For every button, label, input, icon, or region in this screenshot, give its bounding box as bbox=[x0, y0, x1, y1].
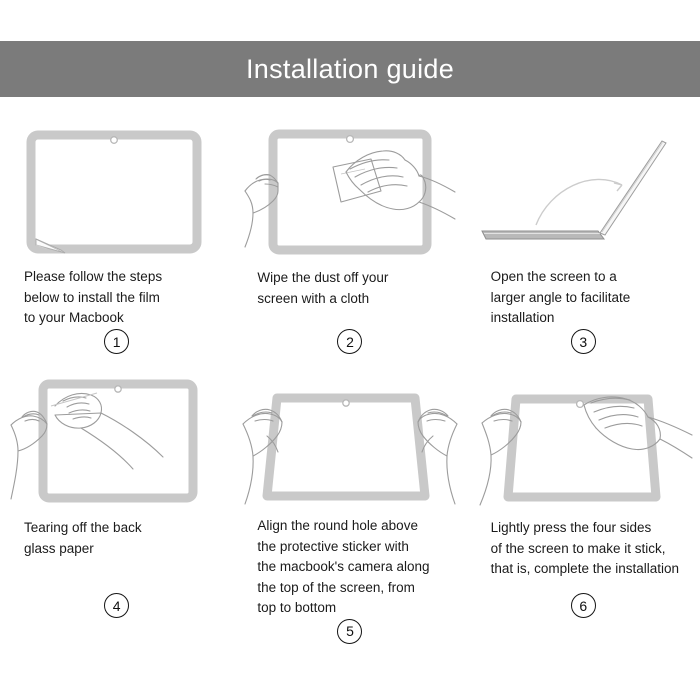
step-number-badge: 6 bbox=[571, 593, 596, 618]
step-card-3: Open the screen to a larger angle to fac… bbox=[467, 128, 700, 378]
step-card-4: Tearing off the back glass paper 4 bbox=[0, 378, 233, 648]
step-number-badge: 4 bbox=[104, 593, 129, 618]
installation-guide-page: Installation guide Please follow the ste… bbox=[0, 0, 700, 700]
step-5-number-wrap: 5 bbox=[245, 619, 454, 674]
step-2-illustration bbox=[245, 128, 454, 256]
step-4-illustration bbox=[12, 378, 221, 506]
header-banner: Installation guide bbox=[0, 41, 700, 97]
step-5-illustration bbox=[245, 378, 454, 504]
step-card-1: Please follow the steps below to install… bbox=[0, 128, 233, 378]
step-4-number-wrap: 4 bbox=[12, 593, 221, 648]
hand-tearing-back-paper-icon bbox=[11, 379, 223, 505]
step-3-number-wrap: 3 bbox=[479, 329, 688, 378]
step-3-caption: Open the screen to a larger angle to fac… bbox=[479, 267, 688, 329]
step-number-badge: 1 bbox=[104, 329, 129, 354]
hand-wiping-screen-with-cloth-icon bbox=[245, 129, 455, 255]
step-2-caption: Wipe the dust off your screen with a clo… bbox=[245, 268, 454, 309]
step-1-number-wrap: 1 bbox=[12, 329, 221, 378]
step-card-2: Wipe the dust off your screen with a clo… bbox=[233, 128, 466, 378]
step-6-number-wrap: 6 bbox=[479, 593, 688, 648]
step-number-badge: 3 bbox=[571, 329, 596, 354]
step-2-number-wrap: 2 bbox=[245, 329, 454, 378]
laptop-screen-with-peeling-film-icon bbox=[17, 129, 217, 255]
step-4-caption: Tearing off the back glass paper bbox=[12, 518, 221, 559]
step-5-caption: Align the round hole above the protectiv… bbox=[245, 516, 454, 619]
two-hands-aligning-film-icon bbox=[243, 378, 457, 504]
step-6-illustration bbox=[479, 378, 688, 506]
step-1-caption: Please follow the steps below to install… bbox=[12, 267, 221, 329]
step-1-illustration bbox=[12, 128, 221, 255]
step-number-badge: 2 bbox=[337, 329, 362, 354]
step-6-caption: Lightly press the four sides of the scre… bbox=[479, 518, 688, 580]
step-number-badge: 5 bbox=[337, 619, 362, 644]
page-title: Installation guide bbox=[246, 56, 454, 83]
steps-grid: Please follow the steps below to install… bbox=[0, 128, 700, 648]
laptop-side-profile-opening-angle-icon bbox=[476, 129, 691, 255]
step-3-illustration bbox=[479, 128, 688, 255]
hand-pressing-screen-icon bbox=[474, 379, 692, 505]
step-card-6: Lightly press the four sides of the scre… bbox=[467, 378, 700, 648]
step-card-5: Align the round hole above the protectiv… bbox=[233, 378, 466, 648]
